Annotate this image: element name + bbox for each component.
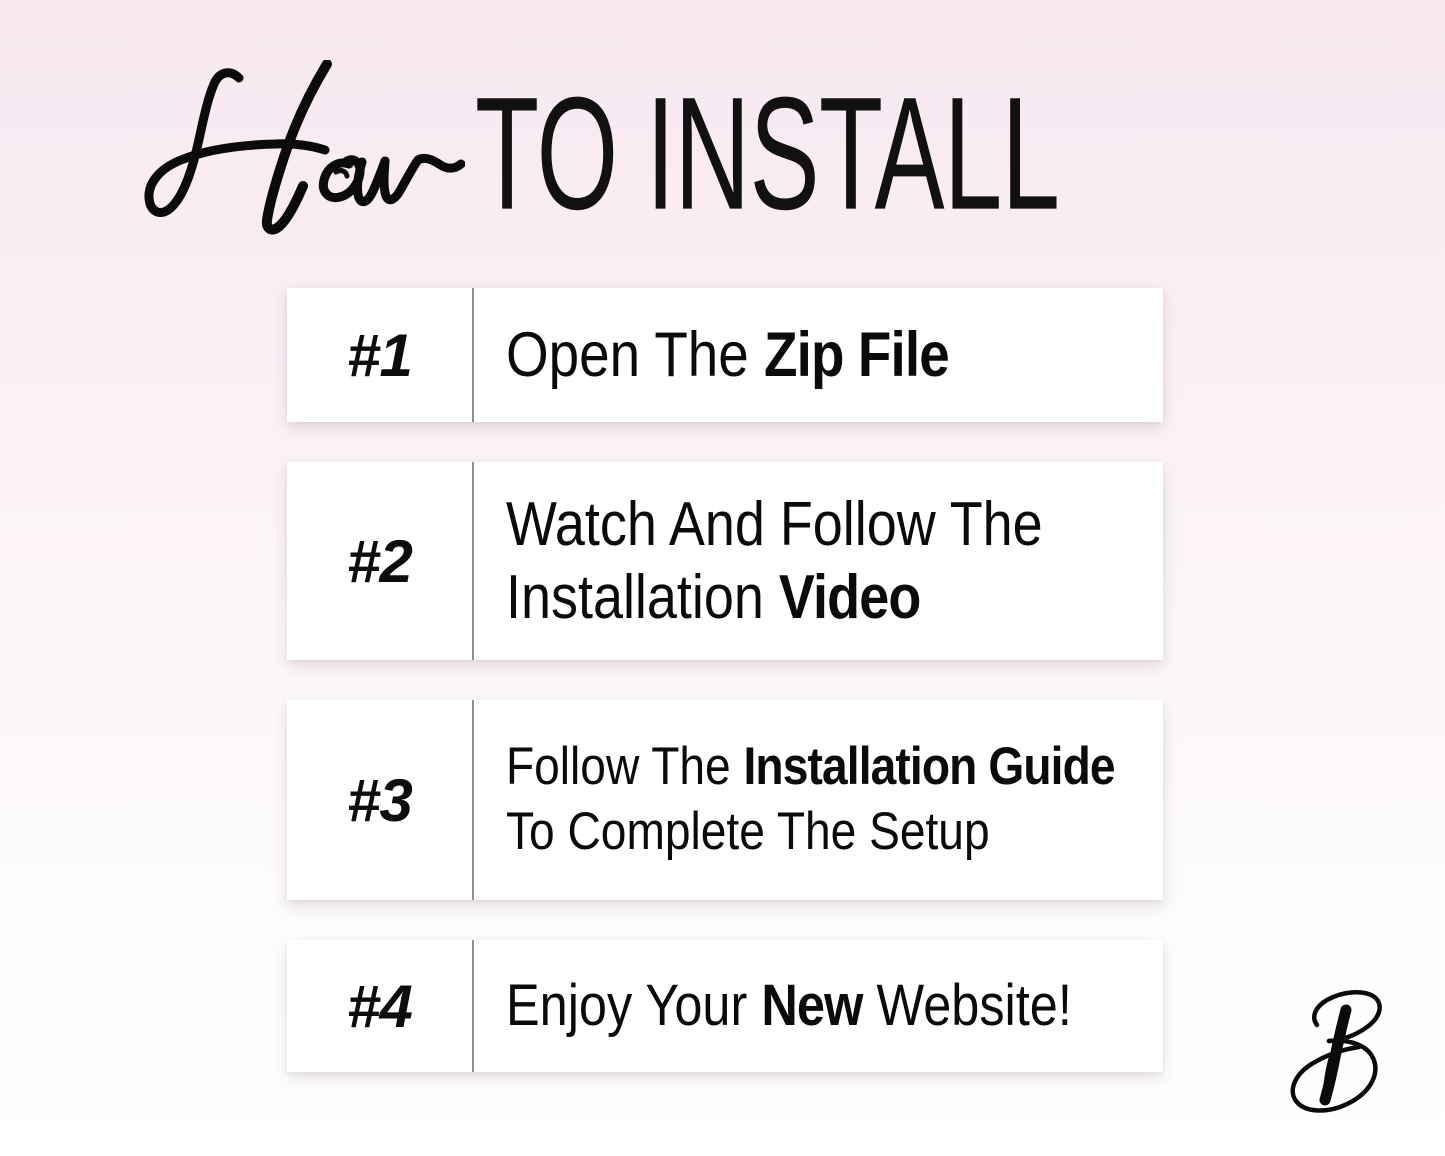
step-line: Follow The Installation Guide [506,735,1115,800]
page-title: TO INSTALL [0,58,1445,248]
step-line: Open The Zip File [506,323,1062,387]
step-text-bold: Installation Guide [743,737,1114,796]
step-number-4: #4 [287,940,472,1072]
step-text-plain: Watch And Follow The [506,490,1043,559]
step-text-plain: Enjoy Your [506,973,761,1038]
step-line: Watch And Follow The [506,488,1062,561]
step-card-4[interactable]: #4 Enjoy Your New Website! [287,940,1163,1072]
step-number-2: #2 [287,462,472,660]
step-card-2[interactable]: #2 Watch And Follow The Installation Vid… [287,462,1163,660]
step-number-3: #3 [287,700,472,900]
title-script-word [135,60,465,240]
step-text-1: Open The Zip File [474,288,1163,422]
step-card-1[interactable]: #1 Open The Zip File [287,288,1163,422]
step-text-4: Enjoy Your New Website! [474,940,1174,1072]
steps-list: #1 Open The Zip File #2 Watch And Follow… [287,288,1163,1072]
step-text-plain: To Complete The Setup [506,802,990,861]
step-text-plain-after: Website! [862,973,1071,1038]
step-text-3: Follow The Installation Guide To Complet… [474,700,1224,900]
script-how-lettering [135,60,465,235]
step-text-bold: Video [779,563,921,632]
brand-monogram [1267,963,1417,1128]
title-block-words: TO INSTALL [475,73,1059,234]
step-text-plain: Installation [506,563,779,632]
step-line: Installation Video [506,561,1062,634]
step-text-plain: Open The [506,320,764,390]
step-line: Enjoy Your New Website! [506,976,1072,1035]
step-line: To Complete The Setup [506,800,1115,865]
step-text-plain: Follow The [506,737,743,796]
step-number-1: #1 [287,288,472,422]
step-card-3[interactable]: #3 Follow The Installation Guide To Comp… [287,700,1163,900]
step-text-2: Watch And Follow The Installation Video [474,462,1163,660]
step-text-bold: New [761,973,862,1038]
script-b-monogram-icon [1267,963,1417,1128]
step-text-bold: Zip File [764,320,949,390]
